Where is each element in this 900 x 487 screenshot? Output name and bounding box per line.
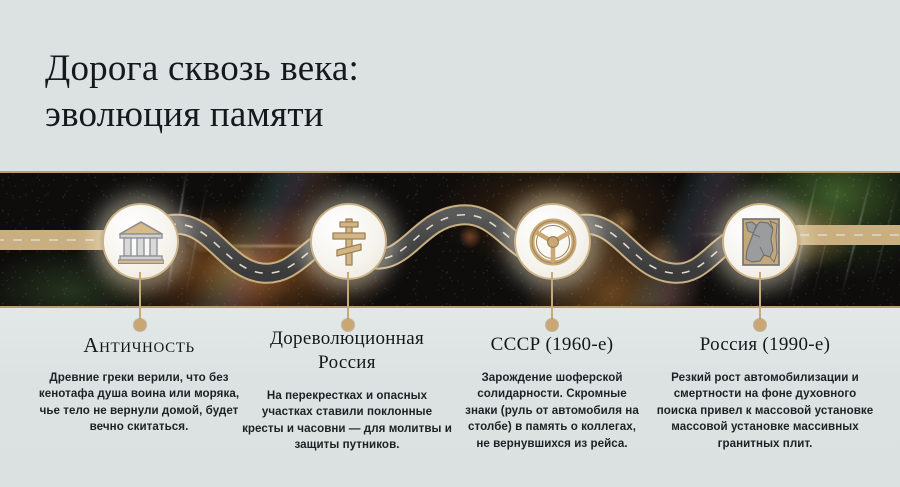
caption-heading: Россия (1990-е) — [652, 333, 878, 357]
milestone-node-russia-1990s[interactable] — [722, 203, 799, 280]
caption-body: На перекрестках и опасных участках стави… — [240, 388, 454, 454]
connector-dot-antiquity — [134, 319, 146, 331]
steering-wheel-icon — [529, 218, 577, 266]
connector-stem-ussr-1960s — [551, 272, 553, 323]
connector-stem-russia-1990s — [759, 272, 761, 323]
orthodox-cross-icon — [329, 217, 369, 267]
milestone-node-pre-revolutionary-russia[interactable] — [310, 203, 387, 280]
caption-heading: Дореволюционная Россия — [240, 327, 454, 375]
greek-temple-icon — [118, 220, 164, 264]
caption-body: Древние греки верили, что без кенотафа д… — [28, 370, 250, 436]
caption-heading: СССР (1960-е) — [462, 333, 642, 357]
page-title-line-1: Дорога сквозь века: — [45, 48, 359, 89]
page-title: Дорога сквозь века: эволюция памяти — [45, 46, 565, 138]
milestone-node-ussr-1960s[interactable] — [514, 203, 591, 280]
connector-dot-russia-1990s — [754, 319, 766, 331]
caption-antiquity: Античность Древние греки верили, что без… — [28, 333, 250, 436]
connector-dot-ussr-1960s — [546, 319, 558, 331]
granite-slab-icon — [740, 217, 782, 267]
caption-ussr-1960s: СССР (1960-е) Зарождение шоферской солид… — [462, 333, 642, 452]
caption-pre-revolutionary-russia: Дореволюционная Россия На перекрестках и… — [240, 327, 454, 454]
cosmic-road-banner — [0, 171, 900, 308]
caption-heading: Античность — [28, 333, 250, 357]
page-title-line-2: эволюция памяти — [45, 92, 565, 138]
infographic-page: Дорога сквозь века: эволюция памяти — [0, 0, 900, 487]
connector-stem-antiquity — [139, 272, 141, 323]
caption-body: Резкий рост автомобилизации и смертности… — [652, 370, 878, 452]
caption-russia-1990s: Россия (1990-е) Резкий рост автомобилиза… — [652, 333, 878, 452]
milestone-node-antiquity[interactable] — [102, 203, 179, 280]
caption-body: Зарождение шоферской солидарности. Скром… — [462, 370, 642, 452]
connector-stem-pre-revolutionary-russia — [347, 272, 349, 323]
